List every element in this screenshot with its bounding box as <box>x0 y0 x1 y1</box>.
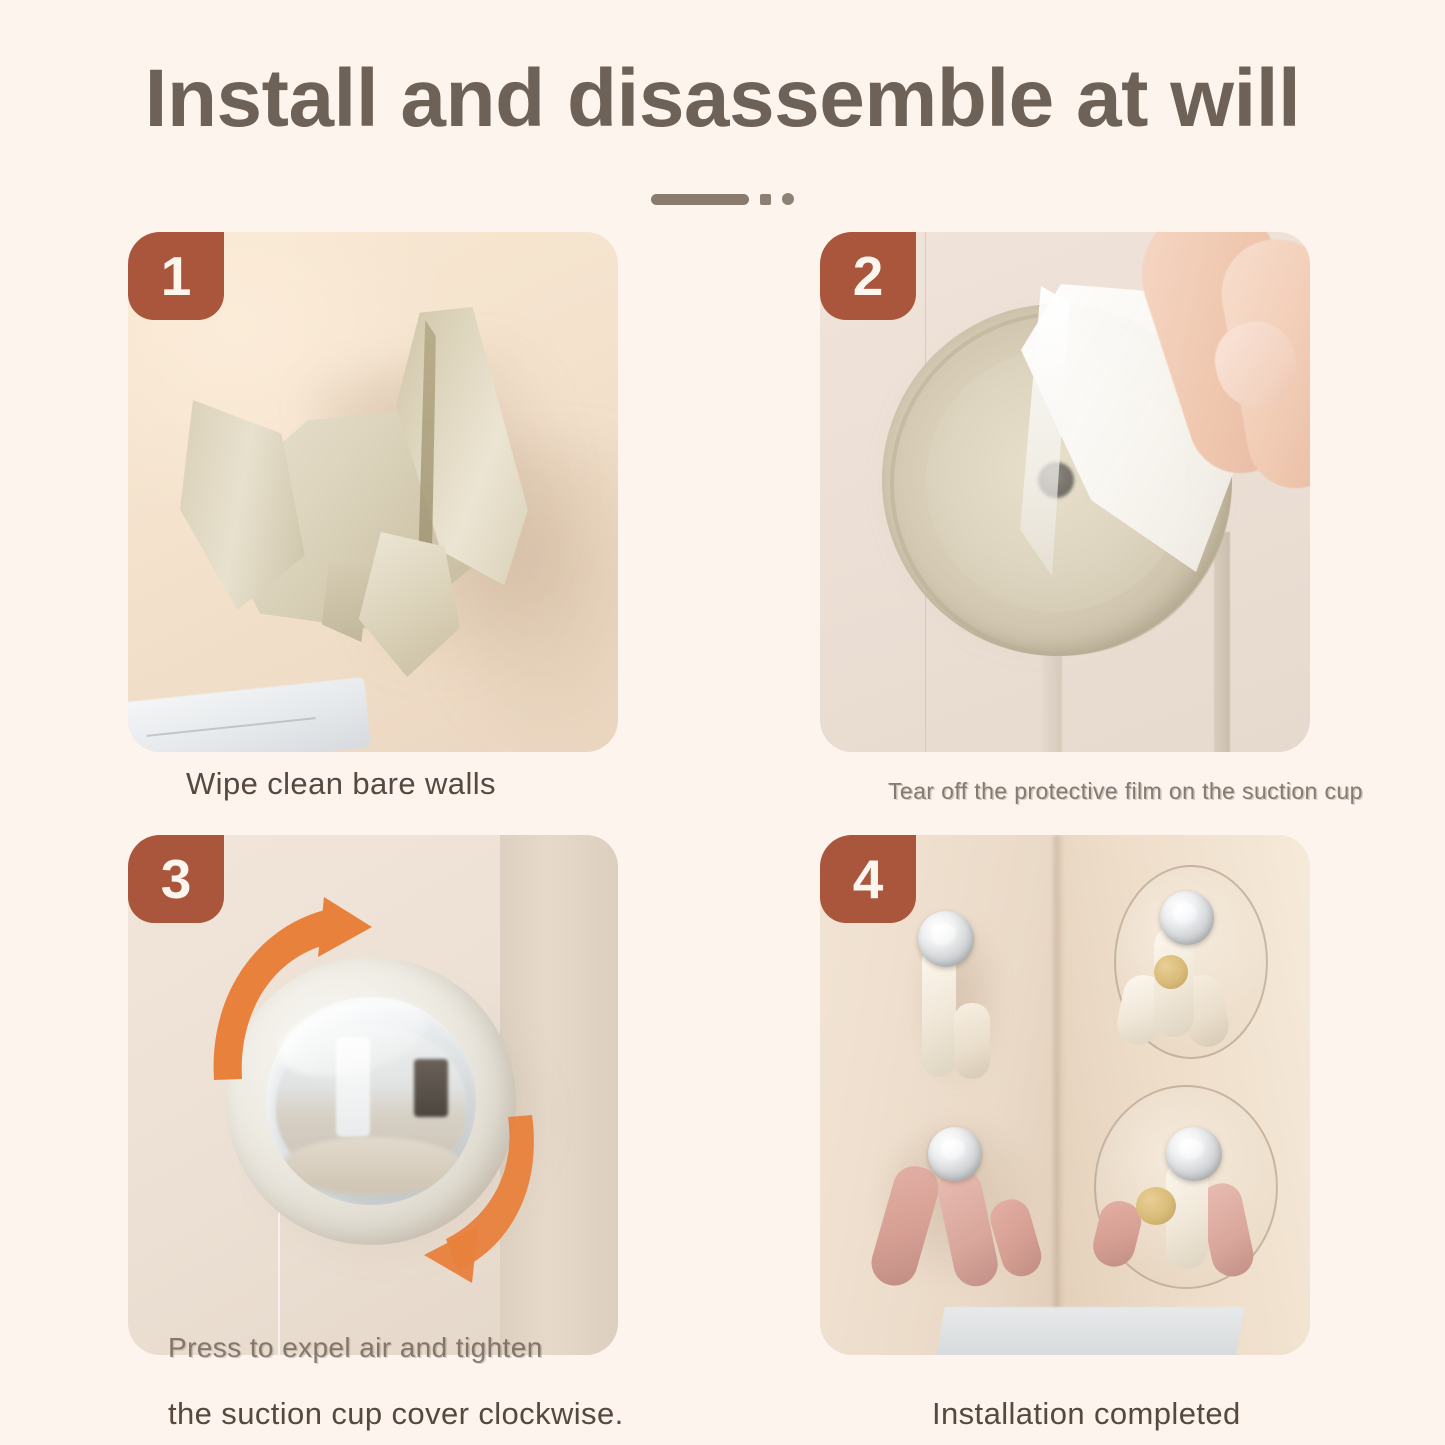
divider-dot-round-icon <box>782 193 794 205</box>
page-title: Install and disassemble at will <box>0 52 1445 146</box>
step-panel-3: 3 <box>128 835 618 1355</box>
step-number-badge-2: 2 <box>820 232 916 320</box>
step-number-badge-1: 1 <box>128 232 224 320</box>
divider <box>0 193 1445 205</box>
divider-bar-icon <box>651 194 749 205</box>
step-number-badge-3: 3 <box>128 835 224 923</box>
step-number-badge-4: 4 <box>820 835 916 923</box>
step-3-caption-line-1: Press to expel air and tighten <box>168 1332 543 1364</box>
step-panel-1: 1 <box>128 232 618 752</box>
step-3-caption-line-2: the suction cup cover clockwise. <box>168 1396 624 1432</box>
step-2-caption: Tear off the protective film on the suct… <box>888 778 1363 805</box>
hand-graphic <box>1116 232 1310 532</box>
divider-dot-square-icon <box>760 194 771 205</box>
step-panel-2: 2 <box>820 232 1310 752</box>
step-1-caption: Wipe clean bare walls <box>186 766 496 802</box>
step-4-caption: Installation completed <box>932 1396 1241 1432</box>
step-panel-4: 4 <box>820 835 1310 1355</box>
